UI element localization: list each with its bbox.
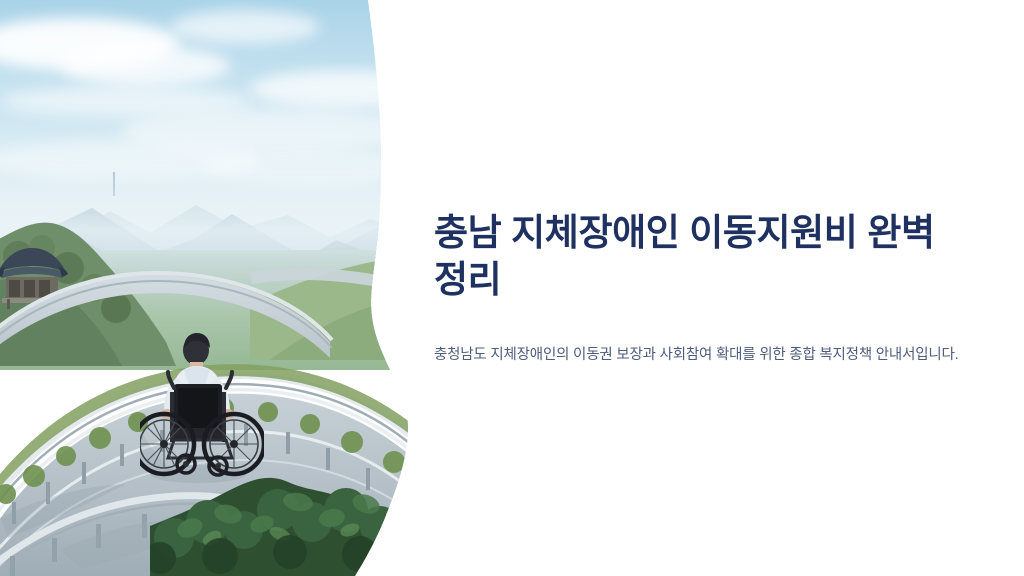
cloud-shape — [60, 46, 230, 86]
page-title: 충남 지체장애인 이동지원비 완벽 정리 — [434, 209, 964, 303]
page-subtitle: 충청남도 지체장애인의 이동권 보장과 사회참여 확대를 위한 종합 복지정책 … — [434, 343, 966, 368]
cloud-shape — [170, 10, 320, 44]
hero-image-panel — [0, 0, 420, 576]
text-content-panel: 충남 지체장애인 이동지원비 완벽 정리 충청남도 지체장애인의 이동권 보장과… — [434, 0, 970, 576]
slide-root: 충남 지체장애인 이동지원비 완벽 정리 충청남도 지체장애인의 이동권 보장과… — [0, 0, 1024, 576]
foreground-foliage — [150, 430, 420, 576]
hero-illustration — [0, 0, 420, 576]
